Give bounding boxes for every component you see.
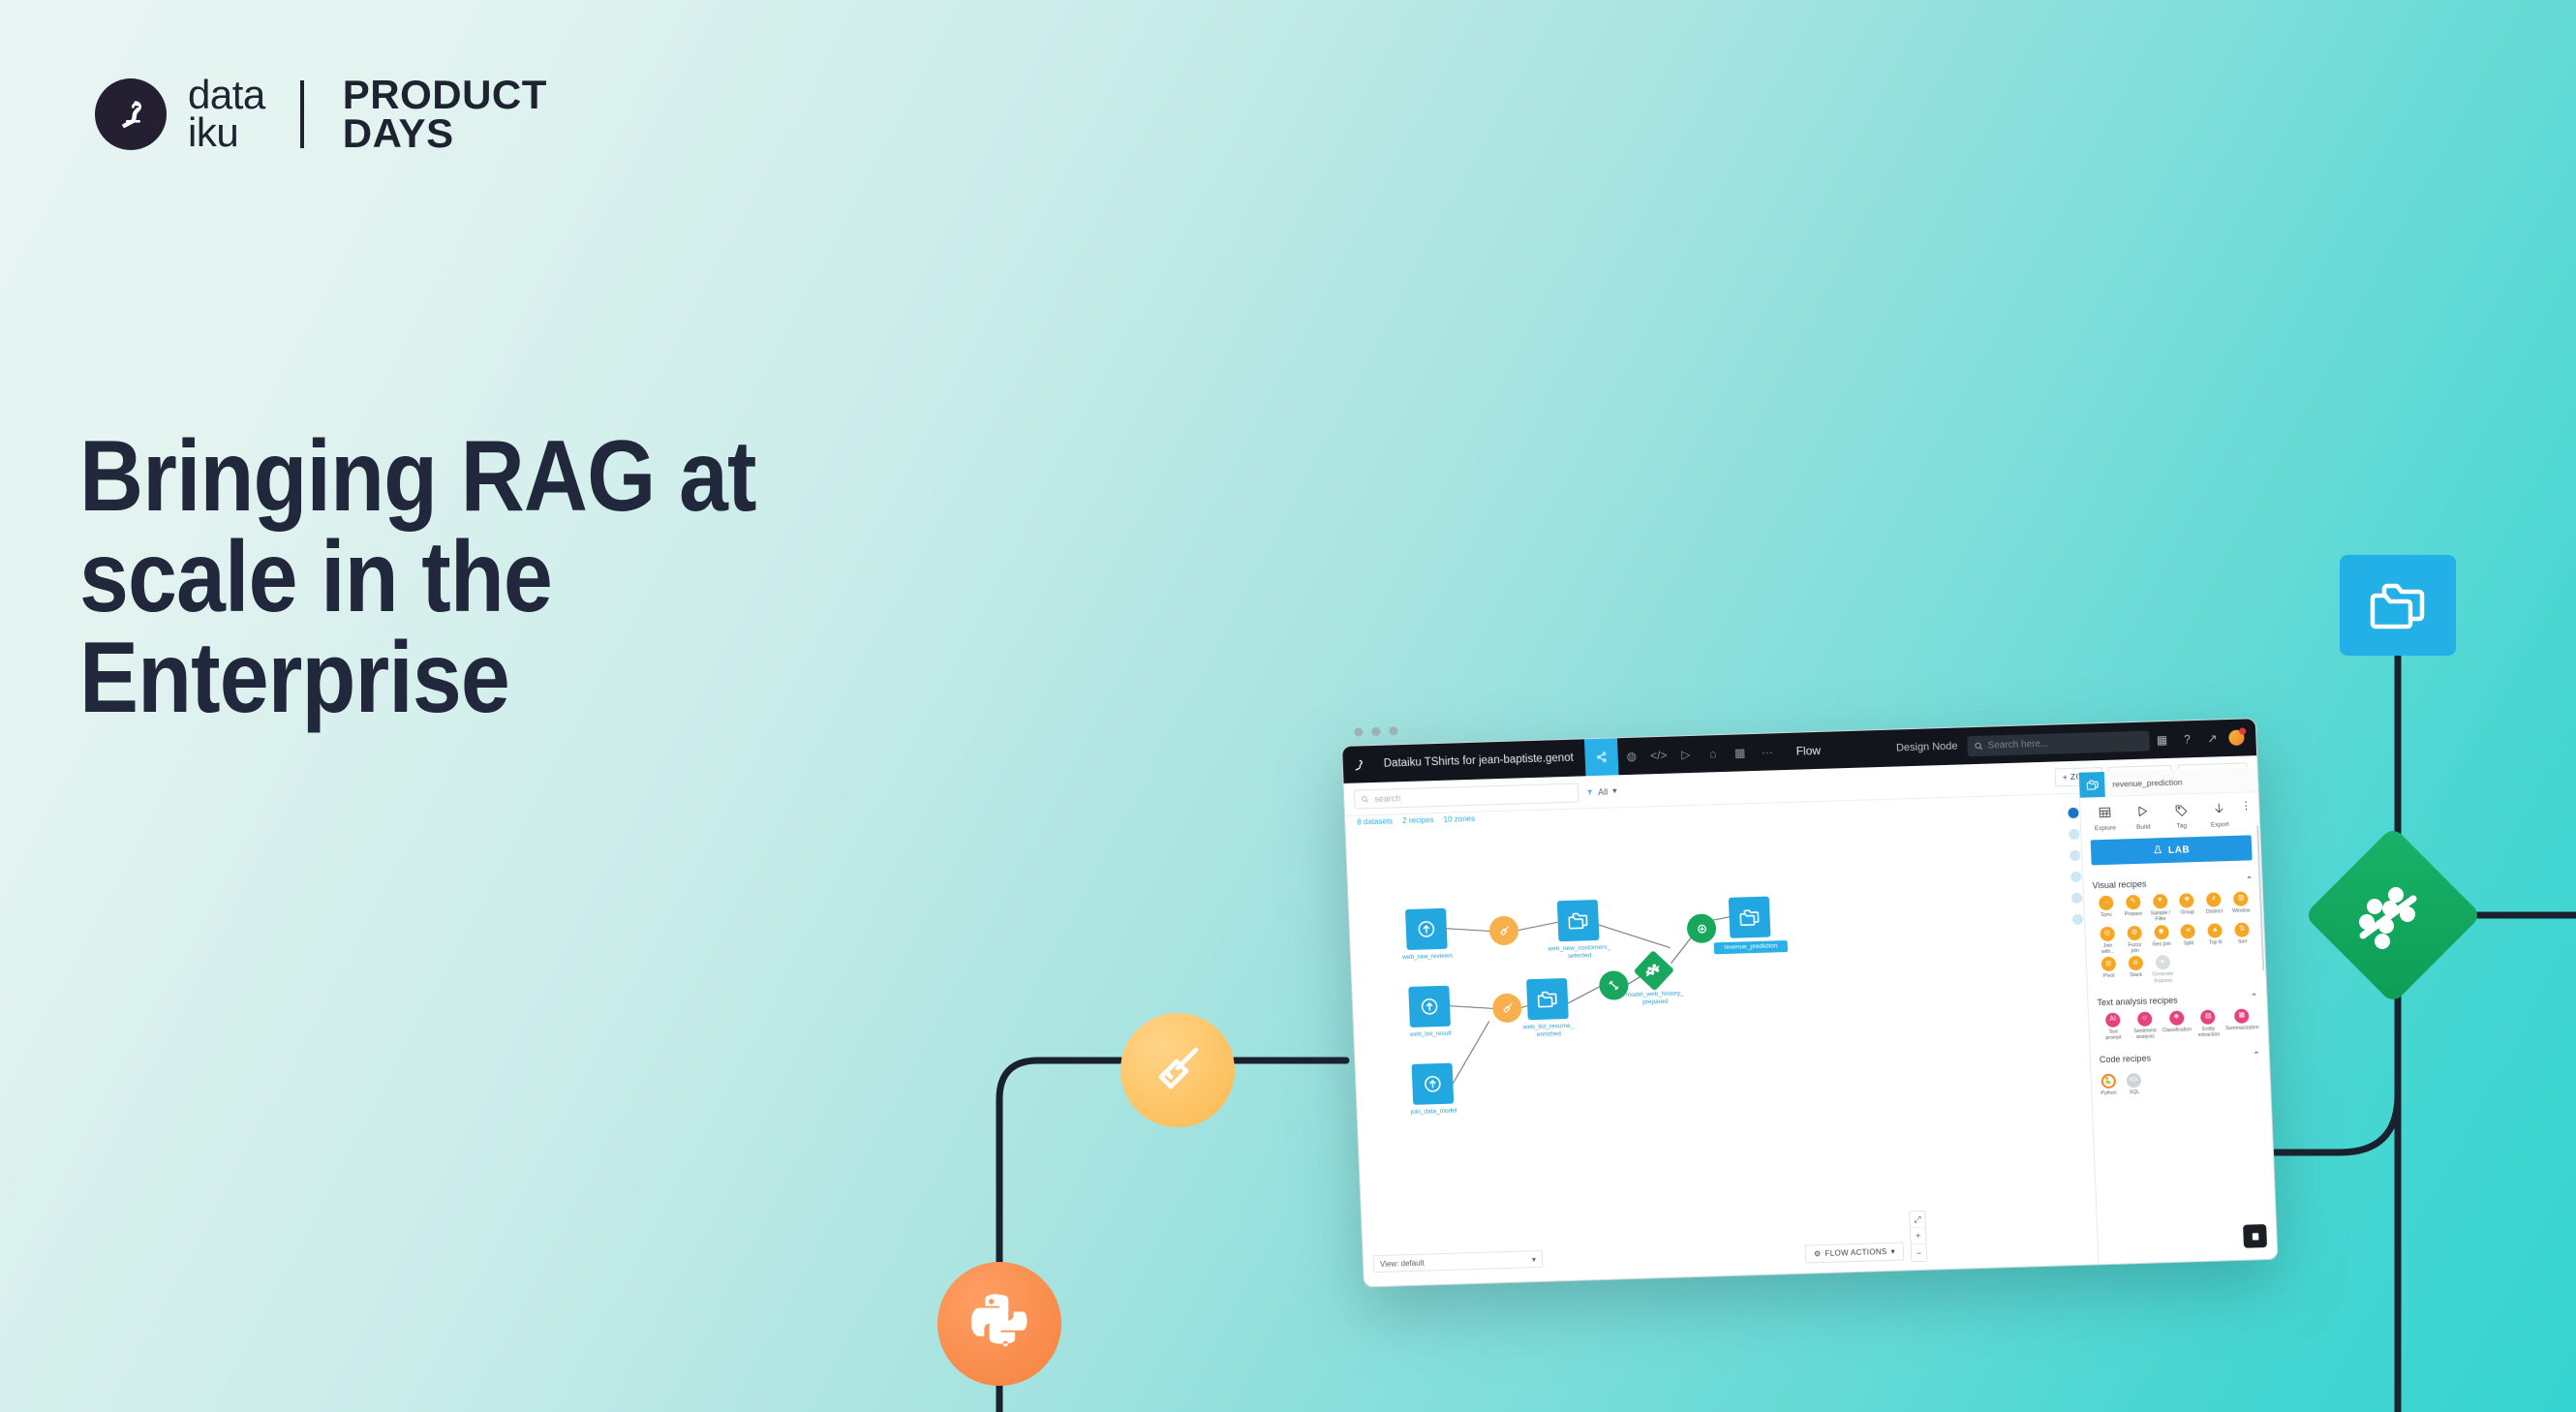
recipe-label: Python bbox=[2101, 1090, 2116, 1095]
upload-icon bbox=[1405, 908, 1448, 950]
scatter-trend-icon bbox=[2351, 874, 2435, 957]
sql-icon: SQL bbox=[2127, 1073, 2142, 1088]
distinct-icon: ≠ bbox=[2206, 892, 2222, 906]
recipe-geo-join[interactable]: ◉Geo join bbox=[2148, 925, 2175, 954]
broom-icon bbox=[1492, 993, 1522, 1023]
recipe-generate-features[interactable]: ✦Generate features bbox=[2149, 955, 2176, 984]
breadcrumb-recipes: 2 recipes bbox=[1402, 815, 1434, 828]
flow-dataset-node-2[interactable]: web_list_resume_ enriched bbox=[1526, 978, 1569, 1020]
recipe-sort[interactable]: ⇅Sort bbox=[2228, 922, 2255, 951]
recipe-distinct[interactable]: ≠Distinct bbox=[2200, 892, 2227, 921]
flow-filter-value: All bbox=[1598, 786, 1608, 796]
flow-upload-node-2[interactable]: web_list_result bbox=[1408, 986, 1451, 1028]
search-icon bbox=[1361, 795, 1368, 803]
flow-upload-node-1[interactable]: web_raw_reviews bbox=[1405, 908, 1448, 950]
flow-search-placeholder: search bbox=[1374, 793, 1400, 804]
split-icon: ⋖ bbox=[2181, 924, 2196, 938]
recipe-label: Summarization bbox=[2225, 1025, 2259, 1031]
python-icon: 🐍 bbox=[2101, 1073, 2116, 1088]
recipe-summarization[interactable]: ▦Summarization bbox=[2224, 1008, 2259, 1038]
title-line-3: Enterprise bbox=[79, 628, 932, 728]
visual-recipes-grid: →Sync ✎Prepare ▼Sample / Filter ❖Group ≠… bbox=[2093, 891, 2257, 986]
broom-icon bbox=[1488, 916, 1518, 946]
help-icon[interactable]: ? bbox=[2174, 732, 2200, 747]
grid-apps-icon[interactable]: ▦ bbox=[2149, 733, 2175, 748]
panel-dataset-name: revenue_prediction bbox=[2104, 777, 2183, 788]
recipe-sync[interactable]: →Sync bbox=[2093, 896, 2120, 925]
flow-prepare-recipe-2[interactable] bbox=[1492, 993, 1522, 1023]
join-icon: ◎ bbox=[2100, 926, 2115, 940]
text-analysis-section: Text analysis recipes ⌃ AIText prompt ☺S… bbox=[2088, 981, 2268, 1042]
search-icon bbox=[1974, 741, 1982, 750]
global-search-placeholder: Search here... bbox=[1987, 738, 2048, 751]
recipe-split[interactable]: ⋖Split bbox=[2175, 924, 2202, 953]
event-line1: PRODUCT bbox=[343, 76, 547, 114]
project-title[interactable]: Dataiku TShirts for jean-baptiste.genot bbox=[1372, 752, 1585, 770]
prepare-recipe-node[interactable] bbox=[1120, 1013, 1235, 1127]
breadcrumb-zones: 10 zones bbox=[1443, 814, 1475, 827]
build-label: Build bbox=[2136, 824, 2151, 831]
share-icon[interactable] bbox=[1584, 738, 1619, 776]
recipe-sample-filter[interactable]: ▼Sample / Filter bbox=[2147, 894, 2174, 923]
lab-button[interactable]: LAB bbox=[2091, 835, 2253, 865]
design-node-label: Design Node bbox=[1896, 740, 1968, 753]
folders-icon bbox=[1557, 900, 1600, 941]
flow-node-label: model_web_history_ prepared bbox=[1613, 990, 1698, 1008]
flow-actions-label: FLOW ACTIONS bbox=[1825, 1247, 1886, 1258]
recipe-label: Group bbox=[2180, 909, 2194, 915]
fuzzy-join-icon: ◍ bbox=[2127, 926, 2142, 940]
recipe-topn[interactable]: ▲Top N bbox=[2202, 923, 2229, 952]
generate-icon: ✦ bbox=[2155, 955, 2170, 969]
brand-word-line2: iku bbox=[188, 114, 265, 152]
recipe-classification[interactable]: ❖Classification bbox=[2162, 1010, 2193, 1040]
recipe-label: Join with... bbox=[2101, 942, 2115, 955]
recipe-label: Fuzzy join bbox=[2128, 942, 2141, 955]
code-recipes-section: Code recipes ⌃ 🐍 Python SQL SQL bbox=[2090, 1037, 2270, 1097]
calendar-icon[interactable]: ▦ bbox=[1726, 746, 1754, 760]
panel-actions: Explore Build Tag Export ⋮ bbox=[2080, 792, 2260, 839]
tag-label: Tag bbox=[2176, 822, 2187, 829]
recipe-window[interactable]: ▥Window bbox=[2227, 891, 2254, 920]
recipe-label: SQL bbox=[2130, 1090, 2140, 1095]
tag-icon bbox=[2162, 803, 2199, 820]
event-line2: DAYS bbox=[343, 114, 547, 153]
visual-recipes-title: Visual recipes bbox=[2092, 878, 2146, 890]
more-icon[interactable]: ··· bbox=[1753, 745, 1781, 759]
right-details-panel: revenue_prediction Explore Build Tag E bbox=[2078, 767, 2278, 1264]
play-icon bbox=[2125, 804, 2162, 821]
broom-icon bbox=[1146, 1038, 1210, 1102]
recipe-pivot[interactable]: ⊞Pivot bbox=[2096, 957, 2123, 986]
upload-icon bbox=[1412, 1063, 1455, 1105]
dataset-icon bbox=[2079, 771, 2105, 797]
brand-wordmark: data iku bbox=[188, 77, 265, 151]
recipe-sql[interactable]: SQL SQL bbox=[2127, 1073, 2142, 1095]
python-icon bbox=[963, 1287, 1036, 1361]
page-title: Bringing RAG at scale in the Enterprise bbox=[79, 426, 932, 728]
visual-recipes-section: Visual recipes ⌃ →Sync ✎Prepare ▼Sample … bbox=[2083, 870, 2266, 987]
event-name: PRODUCT DAYS bbox=[343, 76, 547, 153]
sentiment-icon: ☺ bbox=[2137, 1012, 2153, 1027]
recipe-label: Top N bbox=[2209, 939, 2223, 945]
pivot-icon: ⊞ bbox=[2101, 957, 2117, 971]
brand-logo: data iku PRODUCT DAYS bbox=[95, 76, 547, 153]
window-icon: ▥ bbox=[2233, 891, 2249, 906]
nav-dot-4[interactable] bbox=[2070, 872, 2080, 882]
recipe-label: Window bbox=[2232, 907, 2251, 914]
sync-icon: → bbox=[2099, 896, 2114, 910]
flow-prepare-recipe-1[interactable] bbox=[1488, 916, 1518, 946]
tag-action[interactable]: Tag bbox=[2162, 803, 2200, 830]
nav-dot-active[interactable] bbox=[2068, 808, 2078, 818]
app-window: Dataiku TShirts for jean-baptiste.genot … bbox=[1341, 718, 2279, 1287]
nav-dot-2[interactable] bbox=[2069, 829, 2079, 840]
code-recipes-title: Code recipes bbox=[2100, 1054, 2151, 1065]
flow-model-node[interactable]: model_web_history_ prepared bbox=[1639, 956, 1669, 986]
flow-node-label: web_list_resume_ enriched bbox=[1507, 1022, 1591, 1040]
logo-divider bbox=[300, 80, 304, 148]
nav-dot-6[interactable] bbox=[2071, 914, 2082, 925]
chevron-down-icon: ▾ bbox=[1612, 785, 1617, 796]
recipe-python[interactable]: 🐍 Python bbox=[2101, 1073, 2117, 1095]
recipe-label: Stack bbox=[2130, 972, 2142, 978]
export-label: Export bbox=[2211, 821, 2229, 829]
dataiku-app-screenshot: Dataiku TShirts for jean-baptiste.genot … bbox=[1341, 718, 2279, 1306]
code-recipes-list: 🐍 Python SQL SQL bbox=[2100, 1066, 2261, 1096]
expand-icon[interactable]: ↗ bbox=[2199, 731, 2225, 746]
recipe-prepare[interactable]: ✎Prepare bbox=[2120, 895, 2147, 924]
dataiku-logo-icon[interactable] bbox=[1343, 758, 1373, 772]
filter-icon bbox=[1586, 788, 1593, 796]
zoom-controls[interactable]: ⤢ + − bbox=[1909, 1211, 1927, 1262]
folders-icon bbox=[2368, 578, 2428, 632]
zoom-in-button[interactable]: + bbox=[1911, 1228, 1926, 1244]
flow-filter-dropdown[interactable]: All ▾ bbox=[1586, 785, 1617, 797]
nav-dot-5[interactable] bbox=[2070, 893, 2081, 904]
folders-icon bbox=[1729, 897, 1771, 938]
view-selector-label: View: default bbox=[1380, 1258, 1425, 1268]
recipe-entity-extraction[interactable]: ▤Entity extraction bbox=[2193, 1009, 2223, 1039]
explore-label: Explore bbox=[2095, 825, 2116, 833]
entity-icon: ▤ bbox=[2200, 1010, 2216, 1025]
folders-icon bbox=[1526, 978, 1569, 1020]
recipe-join[interactable]: ◎Join with... bbox=[2094, 926, 2121, 955]
nav-dot-3[interactable] bbox=[2070, 850, 2080, 861]
recipe-label: Geo join bbox=[2152, 941, 2171, 948]
flow-dataset-node-1[interactable]: web_new_customers_ selected bbox=[1557, 900, 1600, 941]
chevron-up-icon[interactable]: ⌃ bbox=[2251, 992, 2258, 1002]
play-icon[interactable]: ▷ bbox=[1671, 748, 1700, 762]
window-traffic-lights bbox=[1354, 726, 1397, 736]
upload-icon bbox=[1408, 986, 1451, 1028]
recipe-fuzzy-join[interactable]: ◍Fuzzy join bbox=[2121, 925, 2148, 954]
text-analysis-grid: AIText prompt ☺Sentiment analysis ❖Class… bbox=[2098, 1008, 2259, 1042]
clock-icon[interactable]: ◍ bbox=[1617, 749, 1645, 763]
recipe-stack[interactable]: ⊜Stack bbox=[2122, 956, 2149, 985]
flow-score-recipe[interactable] bbox=[1686, 913, 1716, 943]
text-analysis-title: Text analysis recipes bbox=[2097, 995, 2177, 1007]
recipe-label: Entity extraction bbox=[2198, 1027, 2221, 1039]
flow-upload-node-3[interactable]: join_data_model bbox=[1412, 1063, 1455, 1105]
recipe-label: Generate features bbox=[2153, 971, 2174, 984]
download-icon bbox=[2201, 802, 2238, 819]
recipe-label: Text prompt bbox=[2105, 1029, 2121, 1042]
wrench-icon: ⚙ bbox=[1814, 1249, 1822, 1258]
recipe-label: Sort bbox=[2238, 938, 2248, 944]
managed-folder-node[interactable] bbox=[2340, 555, 2456, 656]
recipe-label: Distinct bbox=[2206, 908, 2223, 915]
user-avatar[interactable] bbox=[2228, 730, 2245, 746]
recipe-label: Classification bbox=[2162, 1027, 2192, 1033]
topn-icon: ▲ bbox=[2208, 923, 2223, 937]
flow-edges bbox=[1346, 810, 2099, 1287]
chevron-down-icon: ▾ bbox=[1532, 1255, 1536, 1264]
flag-icon[interactable]: ⌂ bbox=[1699, 747, 1727, 761]
zoom-out-button[interactable]: − bbox=[1912, 1244, 1927, 1261]
explore-action[interactable]: Explore bbox=[2086, 805, 2124, 832]
flow-canvas[interactable]: web_raw_reviews web_new_customers_ selec… bbox=[1346, 810, 2099, 1287]
flow-actions-button[interactable]: ⚙ FLOW ACTIONS ▾ bbox=[1805, 1242, 1905, 1263]
chevron-up-icon[interactable]: ⌃ bbox=[2246, 875, 2254, 885]
recipe-label: Split bbox=[2184, 940, 2193, 946]
group-icon: ❖ bbox=[2179, 893, 2194, 907]
chevron-up-icon[interactable]: ⌃ bbox=[2253, 1050, 2260, 1060]
recipe-label: Prepare bbox=[2125, 911, 2143, 918]
recipe-text-prompt[interactable]: AIText prompt bbox=[2098, 1012, 2129, 1042]
fit-to-screen-button[interactable]: ⤢ bbox=[1910, 1212, 1925, 1228]
python-recipe-node[interactable] bbox=[937, 1262, 1061, 1386]
table-icon bbox=[2086, 805, 2123, 822]
recipe-label: Pivot bbox=[2103, 973, 2115, 979]
code-icon[interactable]: </> bbox=[1644, 749, 1672, 763]
lab-label: LAB bbox=[2168, 844, 2191, 856]
flow-node-label-selected: revenue_prediction bbox=[1714, 940, 1788, 954]
build-action[interactable]: Build bbox=[2125, 804, 2162, 831]
broom-icon: ✎ bbox=[2126, 895, 2141, 909]
export-action[interactable]: Export bbox=[2201, 802, 2239, 829]
title-line-2: scale in the bbox=[79, 527, 932, 628]
breadcrumb-datasets: 8 datasets bbox=[1357, 816, 1393, 829]
classification-icon: ❖ bbox=[2169, 1011, 2185, 1026]
recipe-label: Sync bbox=[2101, 912, 2112, 918]
prompt-icon: AI bbox=[2105, 1013, 2121, 1028]
summarize-icon: ▦ bbox=[2234, 1009, 2250, 1024]
recipe-label: Sample / Filter bbox=[2151, 910, 2171, 923]
chevron-down-icon: ▾ bbox=[1890, 1247, 1895, 1256]
score-icon bbox=[1686, 913, 1716, 943]
ml-model-node[interactable] bbox=[2304, 826, 2482, 1004]
flow-search-input[interactable]: search bbox=[1354, 783, 1579, 809]
flow-tab-label[interactable]: Flow bbox=[1795, 744, 1821, 758]
title-line-1: Bringing RAG at bbox=[79, 426, 932, 527]
global-search-input[interactable]: Search here... bbox=[1967, 730, 2150, 756]
geo-join-icon: ◉ bbox=[2154, 925, 2169, 939]
flow-scored-dataset[interactable]: revenue_prediction bbox=[1729, 897, 1771, 938]
lab-flask-icon bbox=[2153, 844, 2163, 857]
help-fab-button[interactable] bbox=[2243, 1224, 2267, 1248]
more-actions-button[interactable]: ⋮ bbox=[2239, 801, 2253, 811]
recipe-group[interactable]: ❖Group bbox=[2173, 893, 2200, 922]
recipe-label: Sentiment analysis bbox=[2133, 1028, 2157, 1040]
filter-icon: ▼ bbox=[2153, 894, 2168, 908]
stack-icon: ⊜ bbox=[2128, 956, 2143, 970]
dataiku-bird-icon bbox=[95, 78, 167, 150]
sort-icon: ⇅ bbox=[2234, 922, 2250, 936]
flow-node-label: web_new_customers_ selected bbox=[1538, 943, 1622, 962]
recipe-sentiment[interactable]: ☺Sentiment analysis bbox=[2130, 1011, 2161, 1041]
